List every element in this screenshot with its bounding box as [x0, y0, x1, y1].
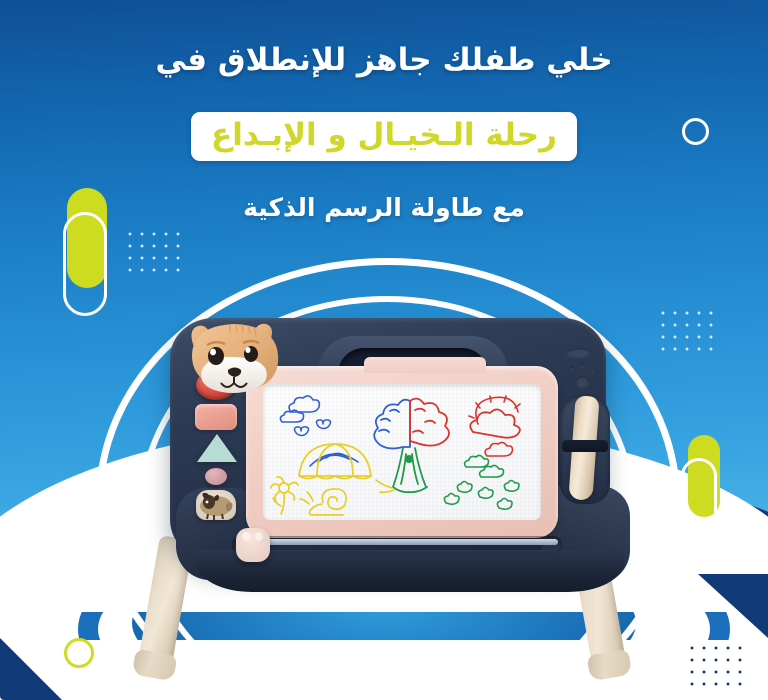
- drawing-screen[interactable]: [263, 384, 541, 520]
- promo-banner: خلي طفلك جاهز للإنطلاق في رحلة الـخيـال …: [0, 0, 768, 700]
- board-inner-frame: [246, 366, 558, 538]
- tree-trunk: [393, 448, 427, 492]
- product-foot-right: [586, 649, 632, 682]
- paw-print-pad-1: [576, 376, 589, 387]
- highlight-block: رحلة الـخيـال و الإبـداع: [0, 112, 768, 161]
- tree-canopy-left: [374, 400, 410, 449]
- eraser-slider-knob[interactable]: [236, 528, 270, 562]
- cloud-red-small: [485, 442, 512, 456]
- dot-grid-right: [655, 305, 717, 355]
- highlight-text: رحلة الـخيـال و الإبـداع: [211, 117, 557, 154]
- paw-print-toe-2: [580, 363, 585, 369]
- umbrella-canopy: [299, 444, 371, 479]
- tree-knot: [405, 455, 413, 463]
- headline-block: خلي طفلك جاهز للإنطلاق في: [0, 42, 768, 79]
- grass-tuft-4: [444, 494, 459, 505]
- grass-tuft-2: [478, 488, 493, 499]
- grass-tuft-5: [497, 499, 512, 510]
- stylus-clip: [562, 440, 608, 452]
- circle-outline-lime-bottom-left: [64, 638, 94, 668]
- flower: [271, 477, 298, 514]
- dot-grid-left: [122, 226, 184, 276]
- dot-grid-bottom-right: [684, 640, 746, 690]
- headline-line-1: خلي طفلك جاهز للإنطلاق في: [0, 42, 768, 79]
- tree-canopy-right: [410, 399, 449, 446]
- dog-eye-highlight-left: [210, 349, 216, 356]
- board-body: [170, 318, 606, 566]
- triangle-shape-button[interactable]: [197, 434, 237, 462]
- outline-pill-left: [63, 212, 107, 316]
- shiba-dog-head-mascot: [180, 312, 290, 404]
- product-magnetic-drawing-board: [148, 300, 628, 700]
- paw-print-toe-1: [570, 366, 575, 372]
- eraser-slider-track: [232, 536, 562, 554]
- outline-pill-right: [681, 458, 717, 546]
- tree-roots: [376, 480, 394, 492]
- animal-sticker-button[interactable]: [196, 490, 236, 520]
- paw-print-toe-3: [590, 367, 595, 373]
- grass-tuft-1: [457, 482, 472, 493]
- dog-eye-highlight-right: [245, 347, 250, 353]
- dog-eye-left: [208, 347, 224, 365]
- butterfly-blue: [295, 427, 309, 436]
- frame-notch: [364, 357, 486, 373]
- butterfly-blue-2: [317, 420, 331, 429]
- eraser-slider-track-inner: [236, 539, 558, 545]
- subheadline-text: مع طاولة الرسم الذكية: [243, 193, 525, 222]
- square-shape-button[interactable]: [195, 404, 237, 430]
- bone-emboss: [566, 348, 590, 357]
- oval-shape-button[interactable]: [205, 468, 227, 485]
- circle-outline-left: [62, 478, 90, 506]
- grass-tuft-3: [504, 481, 519, 492]
- snail: [300, 489, 346, 515]
- highlight-box: رحلة الـخيـال و الإبـداع: [191, 112, 577, 161]
- subheadline-block: مع طاولة الرسم الذكية: [0, 192, 768, 223]
- cloud-green-1: [465, 455, 489, 467]
